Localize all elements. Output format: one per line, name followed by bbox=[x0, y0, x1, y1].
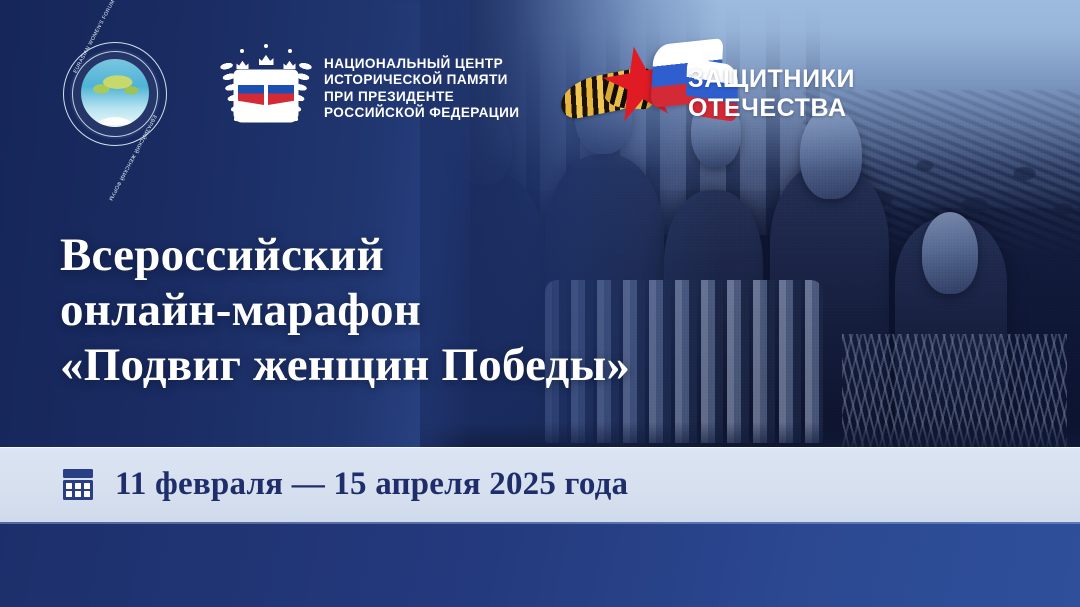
crown-dot bbox=[288, 49, 292, 53]
book-spine bbox=[264, 74, 267, 118]
crowns-icon bbox=[235, 49, 297, 71]
page-title: Всероссийский онлайн-марафон «Подвиг жен… bbox=[60, 228, 760, 393]
national-centre-logo-text: НАЦИОНАЛЬНЫЙ ЦЕНТР ИСТОРИЧЕСКОЙ ПАМЯТИ П… bbox=[324, 56, 519, 122]
bottom-band bbox=[0, 522, 1080, 607]
calendar-cell bbox=[75, 491, 81, 497]
ncip-text-line: НАЦИОНАЛЬНЫЙ ЦЕНТР bbox=[324, 56, 519, 72]
ncip-text-line: ПРИ ПРЕЗИДЕНТЕ bbox=[324, 89, 519, 105]
date-bar: 11 февраля — 15 апреля 2025 года bbox=[0, 447, 1080, 522]
national-centre-historical-memory-logo: НАЦИОНАЛЬНЫЙ ЦЕНТР ИСТОРИЧЕСКОЙ ПАМЯТИ П… bbox=[218, 44, 518, 146]
calendar-icon-header bbox=[63, 469, 93, 478]
eurasian-womens-forum-logo: EURASIAN WOMEN'S FORUM ЕВРАЗИЙСКИЙ ЖЕНСК… bbox=[63, 42, 167, 146]
zashchitniki-otechestva-logo: ЗАЩИТНИКИ ОТЕЧЕСТВА bbox=[560, 38, 880, 138]
ewf-text-top: EURASIAN WOMEN'S FORUM bbox=[73, 0, 117, 74]
calendar-icon bbox=[63, 469, 93, 500]
calendar-cell bbox=[75, 483, 81, 489]
ewf-circular-text: EURASIAN WOMEN'S FORUM ЕВРАЗИЙСКИЙ ЖЕНСК… bbox=[63, 42, 167, 146]
book-page-left-tricolor bbox=[238, 75, 264, 105]
headline-line-3: «Подвиг женщин Победы» bbox=[60, 338, 760, 393]
open-book-icon bbox=[235, 71, 297, 121]
crown-right-icon bbox=[283, 60, 295, 69]
calendar-cell bbox=[66, 491, 72, 497]
crown-center-icon bbox=[259, 54, 274, 65]
crown-left-icon bbox=[236, 60, 248, 69]
event-date-range: 11 февраля — 15 апреля 2025 года bbox=[115, 466, 628, 503]
calendar-icon-grid bbox=[63, 480, 93, 500]
ncip-emblem-icon bbox=[218, 44, 314, 140]
headline-line-1: Всероссийский bbox=[60, 228, 760, 283]
bottom-band-divider bbox=[0, 522, 1080, 524]
logo-row: EURASIAN WOMEN'S FORUM ЕВРАЗИЙСКИЙ ЖЕНСК… bbox=[0, 0, 1080, 150]
book-page-right-tricolor bbox=[268, 75, 294, 105]
zashchitniki-otechestva-logo-text: ЗАЩИТНИКИ ОТЕЧЕСТВА bbox=[688, 65, 855, 123]
ncip-text-line: ИСТОРИЧЕСКОЙ ПАМЯТИ bbox=[324, 72, 519, 88]
zo-text-line: ЗАЩИТНИКИ bbox=[688, 65, 855, 94]
calendar-cell bbox=[66, 483, 72, 489]
zo-text-line: ОТЕЧЕСТВА bbox=[688, 94, 855, 123]
poster: EURASIAN WOMEN'S FORUM ЕВРАЗИЙСКИЙ ЖЕНСК… bbox=[0, 0, 1080, 607]
headline-line-2: онлайн-марафон bbox=[60, 283, 760, 338]
calendar-cell bbox=[84, 483, 90, 489]
ncip-text-line: РОССИЙСКОЙ ФЕДЕРАЦИИ bbox=[324, 105, 519, 121]
crown-dot bbox=[240, 49, 244, 53]
calendar-cell bbox=[84, 491, 90, 497]
crown-dot bbox=[264, 44, 268, 48]
